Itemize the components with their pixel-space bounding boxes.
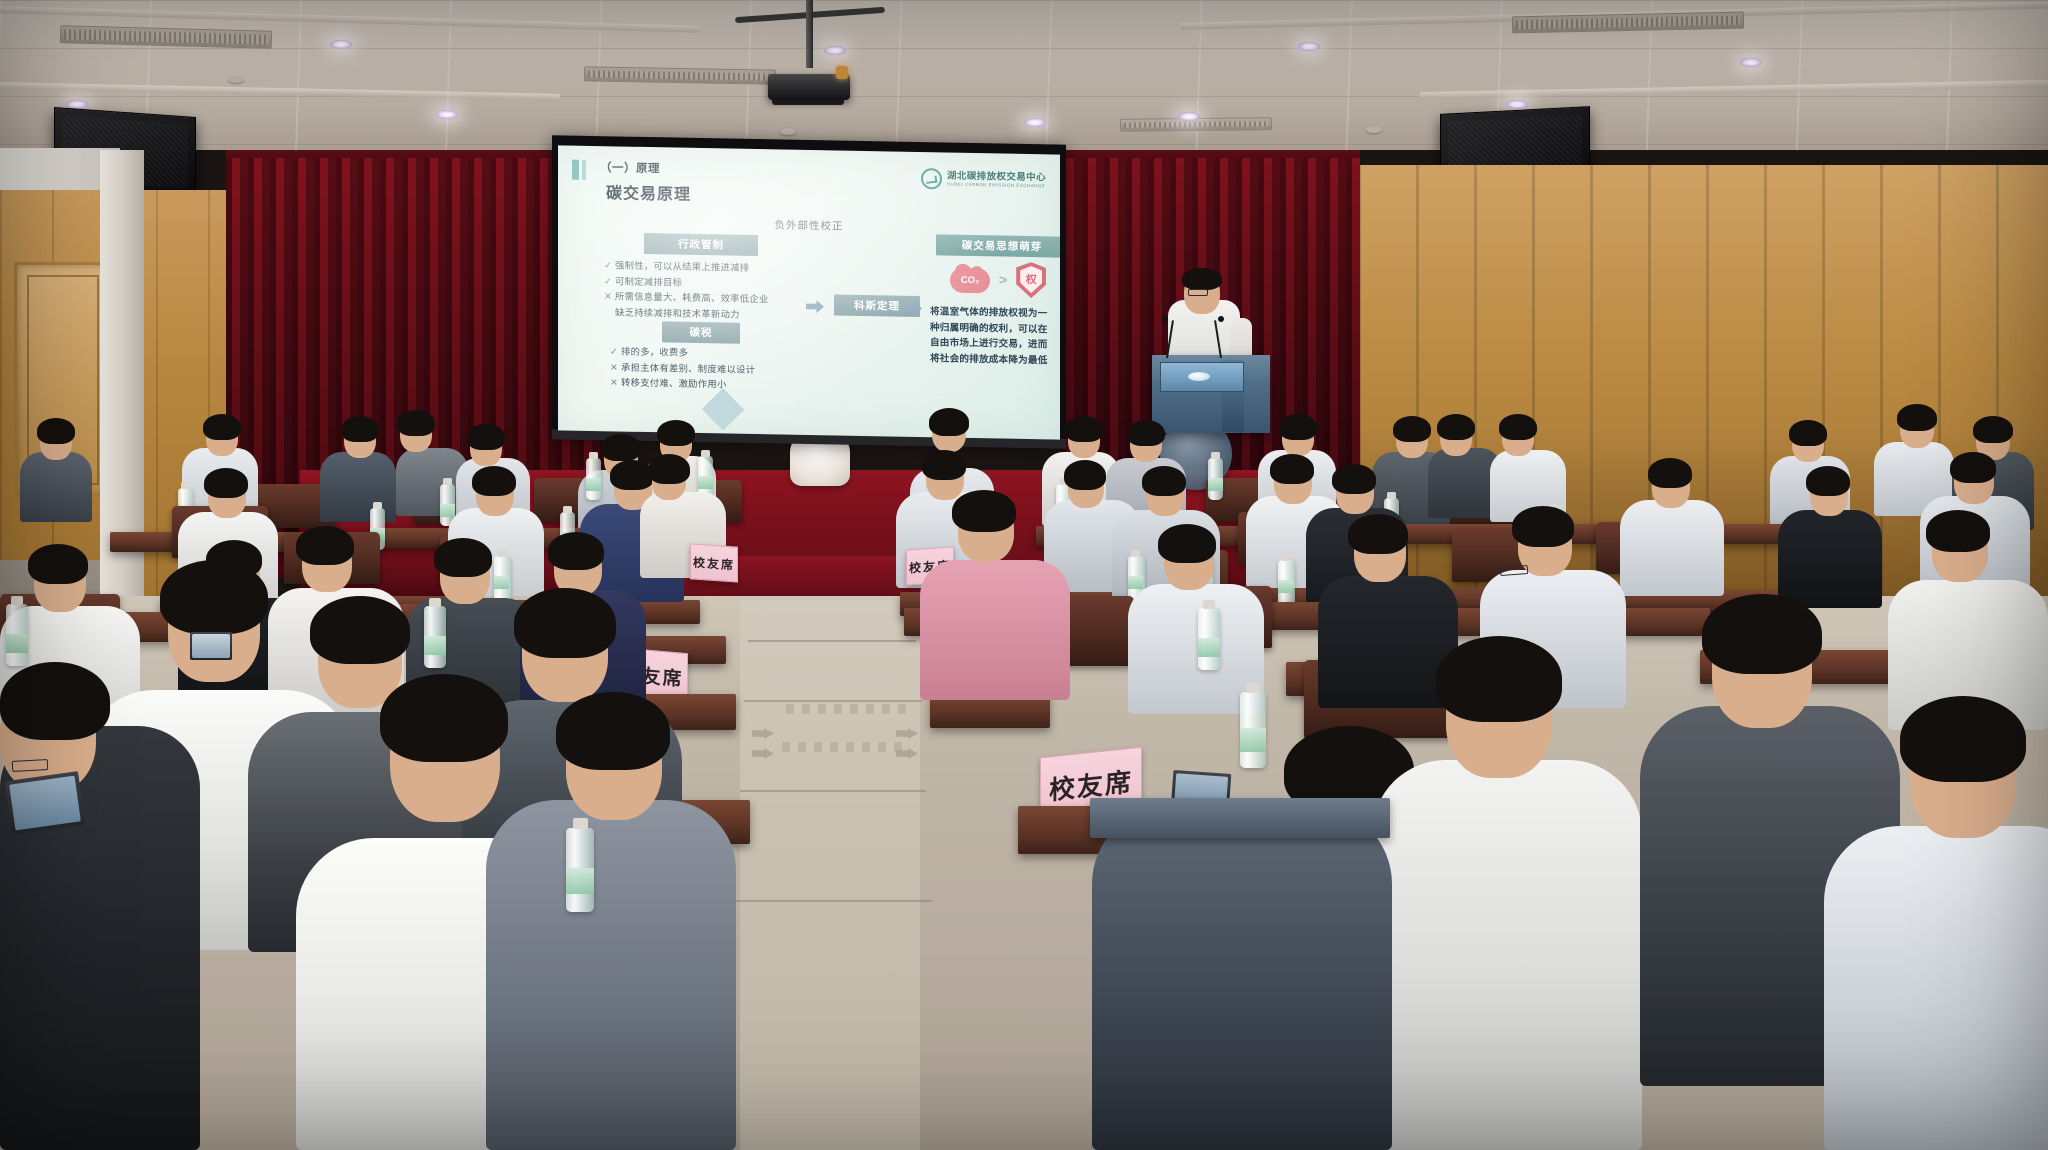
audience-member-foreground	[1092, 806, 1392, 1150]
tactile-paving	[786, 704, 906, 714]
admin-bullet-list: ✓强制性，可以从结果上推进减排 ✓可制定减排目标 ✕所需信息量大、耗费高、效率低…	[604, 258, 769, 323]
slide-subtitle: 负外部性校正	[558, 213, 1060, 237]
phone-device[interactable]	[190, 632, 232, 660]
tax-bullet-list: ✓排的多，收费多 ✕承担主体有差别、制度难以设计 ✕转移支付难、激励作用小	[610, 344, 755, 393]
bullet-text: 所需信息量大、耗费高、效率低企业	[615, 292, 769, 305]
bullet-mark: ✕	[604, 289, 615, 305]
slide-logo: 湖北碳排放权交易中心 HUBEI CARBON EMISSION EXCHANG…	[921, 168, 1046, 191]
audience-hair	[1436, 636, 1562, 722]
recessed-downlight	[330, 40, 352, 49]
microphone-head-icon	[1218, 316, 1224, 322]
bullet-mark: ✕	[610, 376, 621, 392]
audience-hair	[1900, 696, 2026, 782]
water-bottle	[566, 828, 594, 912]
audience-hair	[1142, 466, 1186, 496]
audience-hair	[204, 468, 248, 498]
wall-pillar-left	[100, 150, 144, 670]
presenter-glasses	[1188, 289, 1208, 296]
recessed-downlight	[436, 110, 458, 119]
audience-hair	[1950, 452, 1996, 483]
smoke-detector-icon	[780, 128, 796, 135]
bullet-text: 转移支付难、激励作用小	[621, 378, 727, 390]
audience-hair	[1512, 506, 1574, 547]
slide-title: 碳交易原理	[606, 179, 691, 205]
recessed-downlight	[1506, 100, 1528, 109]
audience-hair	[929, 408, 969, 436]
bullet-text: 缺乏持续减排和技术革新动力	[615, 307, 740, 319]
audience-member	[20, 452, 92, 522]
tablet-device[interactable]	[5, 771, 86, 835]
shield-label: 权	[1016, 271, 1046, 288]
audience-hair	[1926, 510, 1990, 552]
audience-desk	[1090, 798, 1390, 838]
audience-member-foreground	[486, 800, 736, 1150]
audience-hair	[556, 692, 670, 770]
audience-hair	[28, 544, 88, 584]
audience-hair	[1127, 420, 1165, 446]
water-bottle	[586, 458, 601, 500]
recessed-downlight	[1178, 112, 1200, 121]
co2-vs-rights-group: CO₂ > 权	[950, 261, 1046, 299]
audience-hair	[1806, 466, 1850, 496]
audience-hair	[1437, 414, 1475, 440]
audience-hair	[648, 454, 690, 484]
audience-hair	[922, 450, 966, 480]
university-emblem-icon	[1188, 372, 1210, 381]
audience-hair	[37, 418, 75, 444]
audience-hair	[472, 466, 516, 496]
audience-hair	[1348, 514, 1408, 554]
recessed-downlight	[1298, 42, 1320, 51]
co2-label: CO₂	[950, 275, 990, 287]
table-card-alumni: 校友席	[690, 543, 738, 582]
audience-hair	[1973, 416, 2013, 443]
arrow-right-icon	[806, 300, 824, 313]
bullet-mark: ✓	[604, 258, 615, 274]
bullet-text: 承担主体有差别、制度难以设计	[621, 362, 755, 374]
bullet-text: 排的多，收费多	[621, 347, 688, 358]
bullet-mark: ✓	[610, 344, 621, 360]
audience-hair	[1065, 416, 1103, 442]
chip-admin-control: 行政管制	[644, 233, 758, 256]
microphone-head-icon	[1162, 316, 1168, 322]
audience-member	[1620, 500, 1724, 596]
audience-hair	[160, 560, 268, 634]
center-aisle	[740, 600, 920, 1150]
recessed-downlight	[1024, 118, 1046, 127]
chip-carbon-trading-idea: 碳交易思想萌芽	[936, 234, 1060, 257]
tactile-paving	[782, 742, 902, 752]
bullet-mark: ✕	[610, 360, 621, 376]
water-bottle	[1208, 458, 1223, 500]
audience-hair	[657, 420, 695, 446]
audience-member	[1778, 510, 1882, 608]
projector-mount-pole	[806, 0, 813, 68]
aisle-seam	[740, 790, 926, 792]
bullet-text: 强制性，可以从结果上推进减排	[615, 260, 749, 272]
screenshot-root: （一）原理 碳交易原理 湖北碳排放权交易中心 HUBEI CARBON EMIS…	[0, 0, 2048, 1150]
projector-vent	[772, 100, 844, 105]
aisle-seam	[748, 640, 916, 642]
exchange-logo-icon	[921, 168, 942, 189]
audience-hair	[1393, 416, 1431, 442]
right-paragraph: 将温室气体的排放权视为一种归属明确的权利，可以在自由市场上进行交易，进而将社会的…	[930, 304, 1048, 368]
aisle-seam	[744, 700, 922, 702]
audience-hair	[397, 410, 435, 436]
bullet-text: 可制定减排目标	[615, 276, 682, 287]
audience-hair	[296, 526, 354, 565]
audience-hair	[1499, 414, 1537, 440]
audience-hair	[1064, 460, 1106, 490]
logo-text-en: HUBEI CARBON EMISSION EXCHANGE	[947, 182, 1046, 189]
audience-glasses	[1500, 565, 1529, 576]
audience-member	[920, 560, 1070, 700]
audience-hair	[310, 596, 410, 664]
audience-hair	[601, 434, 641, 461]
audience-hair	[952, 490, 1016, 532]
water-bottle	[424, 606, 446, 668]
water-bottle	[1198, 608, 1220, 670]
audience-hair	[1279, 414, 1317, 440]
projector-lens-icon	[836, 66, 848, 79]
audience-hair	[467, 424, 505, 450]
audience-hair	[1270, 454, 1314, 484]
projection-screen: （一）原理 碳交易原理 湖北碳排放权交易中心 HUBEI CARBON EMIS…	[558, 145, 1060, 439]
audience-hair	[1897, 404, 1937, 431]
slide-decoration-diamond	[702, 388, 744, 430]
aisle-seam	[736, 900, 932, 902]
slide-kicker: （一）原理	[600, 159, 660, 176]
smoke-detector-icon	[1366, 126, 1382, 133]
audience-glasses	[12, 759, 49, 772]
water-bottle	[6, 604, 28, 666]
audience-hair	[380, 674, 508, 762]
audience-member-foreground	[1372, 760, 1642, 1150]
water-bottle	[1240, 692, 1266, 768]
audience-hair	[1789, 420, 1827, 446]
audience-hair	[341, 416, 379, 442]
audience-hair	[514, 588, 616, 658]
co2-cloud-icon: CO₂	[950, 264, 990, 295]
slide-accent-bars-icon	[572, 160, 586, 180]
audience-hair	[1648, 458, 1692, 488]
audience-hair	[548, 532, 604, 570]
recessed-downlight	[1740, 58, 1762, 67]
bullet-mark: ✓	[604, 274, 615, 290]
smoke-detector-icon	[228, 76, 244, 83]
audience-hair	[1158, 524, 1216, 563]
rights-shield-icon: 权	[1016, 262, 1046, 299]
chip-carbon-tax: 碳税	[662, 321, 740, 343]
greater-than-icon: >	[999, 271, 1007, 287]
audience-hair	[1332, 464, 1376, 494]
audience-hair	[1702, 594, 1822, 674]
presenter-hair	[1182, 268, 1222, 290]
list-item: ✕转移支付难、激励作用小	[610, 376, 755, 394]
audience-hair	[434, 538, 492, 577]
recessed-downlight	[824, 46, 846, 55]
audience-hair	[203, 414, 241, 440]
audience-hair	[0, 662, 110, 740]
audience-member-foreground	[1824, 826, 2048, 1150]
